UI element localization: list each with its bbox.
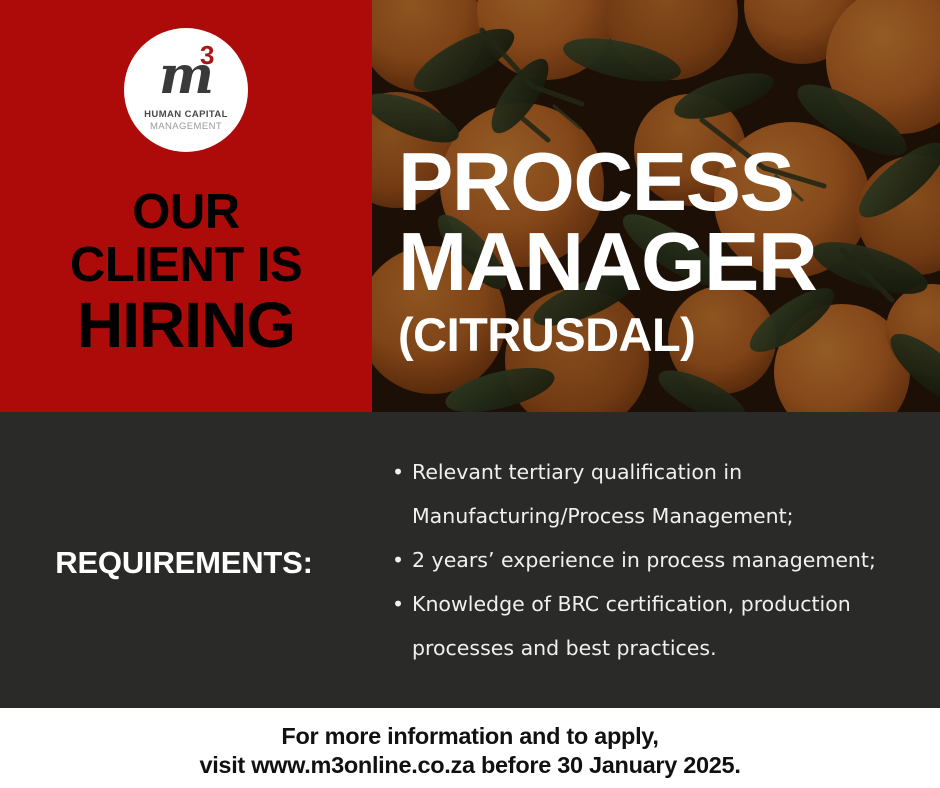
m3-logo-badge: m 3 HUMAN CAPITAL MANAGEMENT — [124, 28, 248, 152]
hiring-line-client-is: CLIENT IS — [0, 238, 372, 292]
footer-line2: visit www.m3online.co.za before 30 Janua… — [0, 751, 940, 780]
hiring-line-hiring: HIRING — [0, 292, 372, 358]
logo-inner: m 3 HUMAN CAPITAL MANAGEMENT — [124, 28, 248, 152]
logo-tagline-line2: MANAGEMENT — [124, 122, 248, 132]
requirement-item: • 2 years’ experience in process managem… — [386, 538, 926, 582]
bullet-icon: • — [392, 582, 404, 626]
requirement-item: • Relevant tertiary qualification in Man… — [386, 450, 926, 538]
footer-line1: For more information and to apply, — [0, 722, 940, 751]
poster-top-section: m 3 HUMAN CAPITAL MANAGEMENT OUR CLIENT … — [0, 0, 940, 412]
requirements-list: • Relevant tertiary qualification in Man… — [386, 450, 926, 670]
requirement-item: • Knowledge of BRC certification, produc… — [386, 582, 926, 670]
job-title-line-manager: MANAGER — [398, 222, 938, 302]
poster-footer: For more information and to apply, visit… — [0, 708, 940, 788]
bullet-icon: • — [392, 450, 404, 494]
job-title-line-process: PROCESS — [398, 142, 938, 222]
requirements-label: REQUIREMENTS: — [0, 545, 368, 581]
requirement-text: Knowledge of BRC certification, producti… — [412, 592, 851, 660]
requirement-text: Relevant tertiary qualification in Manuf… — [412, 460, 794, 528]
footer-call-to-action: For more information and to apply, visit… — [0, 722, 940, 780]
job-location: (CITRUSDAL) — [398, 302, 938, 368]
job-title-block: PROCESS MANAGER (CITRUSDAL) — [398, 142, 938, 368]
job-advert-poster: m 3 HUMAN CAPITAL MANAGEMENT OUR CLIENT … — [0, 0, 940, 788]
hiring-line-our: OUR — [0, 186, 372, 238]
requirement-text: 2 years’ experience in process managemen… — [412, 548, 876, 572]
logo-m-mark: m — [124, 50, 248, 102]
logo-superscript-three: 3 — [200, 42, 214, 68]
hiring-headline: OUR CLIENT IS HIRING — [0, 186, 372, 358]
logo-tagline-line1: HUMAN CAPITAL — [124, 110, 248, 120]
bullet-icon: • — [392, 538, 404, 582]
